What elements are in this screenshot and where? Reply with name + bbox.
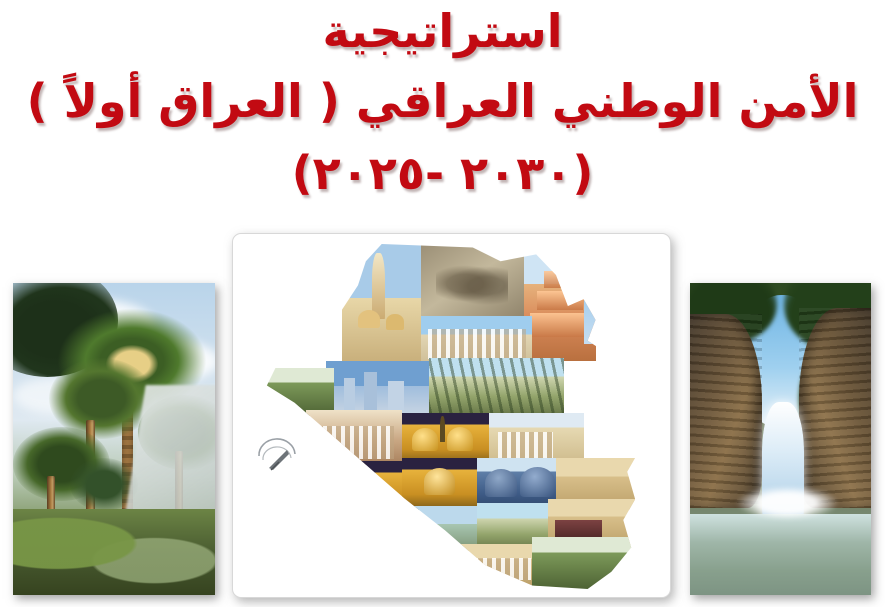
blue-dome — [485, 469, 516, 497]
dome-shape — [386, 314, 403, 329]
palm-scene-backdrop — [13, 283, 215, 595]
tile-northern-sky — [584, 261, 639, 344]
rock-cliff-right — [799, 308, 871, 508]
tile-assyrian-relief — [421, 244, 524, 327]
dome-shape — [358, 310, 380, 329]
iraq-silhouette — [255, 244, 651, 589]
colonnade-shape — [314, 426, 394, 459]
cover-image-row — [0, 228, 885, 607]
blue-dome — [520, 467, 555, 497]
title-line-year-range: (٢٠٣٠ -٢٠٢٥) — [0, 150, 885, 196]
tile-ctesiphon-columns — [306, 410, 401, 465]
colonnade-shape — [428, 329, 526, 359]
ziggurat-step — [530, 313, 590, 337]
reed-texture — [429, 358, 564, 413]
golden-dome — [447, 427, 473, 452]
arcade-shape — [465, 558, 531, 580]
title-line-strategy: استراتيجية — [0, 8, 885, 54]
arcade-shape — [498, 432, 553, 459]
rock-strata — [690, 314, 762, 507]
golden-dome — [344, 473, 375, 499]
relief-carving — [436, 262, 508, 305]
iraq-map-collage — [232, 233, 671, 598]
golden-dome — [424, 468, 456, 495]
minaret-shape — [440, 416, 445, 442]
ziggurat-step — [537, 291, 583, 311]
cover-page: استراتيجية الأمن الوطني العراقي ( العراق… — [0, 0, 885, 607]
landmark-collage — [255, 244, 651, 589]
water-pool — [690, 514, 871, 595]
map-canvas — [233, 234, 670, 597]
building-shape — [344, 378, 355, 414]
minaret-shape — [372, 253, 385, 319]
title-line-subject: الأمن الوطني العراقي ( العراق أولاً ) — [0, 78, 885, 124]
tile-martyr-monument — [342, 244, 421, 361]
ziggurat-step — [544, 271, 575, 289]
waterfall-scene-backdrop — [690, 283, 871, 595]
foam-splash — [737, 486, 838, 520]
rock-strata — [799, 308, 871, 508]
cover-title-block: استراتيجية الأمن الوطني العراقي ( العراق… — [0, 0, 885, 228]
tile-najaf-shrine — [402, 458, 481, 510]
waterfall-gorge-photo — [690, 283, 871, 595]
tile-basra-palms — [532, 537, 635, 589]
grass-ground — [13, 509, 215, 595]
tile-marshes-north — [429, 358, 564, 413]
tile-karbala-shrine — [318, 461, 405, 513]
building-shape — [364, 372, 377, 414]
golden-dome — [412, 428, 438, 452]
date-palm-grove-photo — [13, 283, 215, 595]
rock-cliff-left — [690, 314, 762, 507]
emblem-icon — [257, 434, 317, 476]
